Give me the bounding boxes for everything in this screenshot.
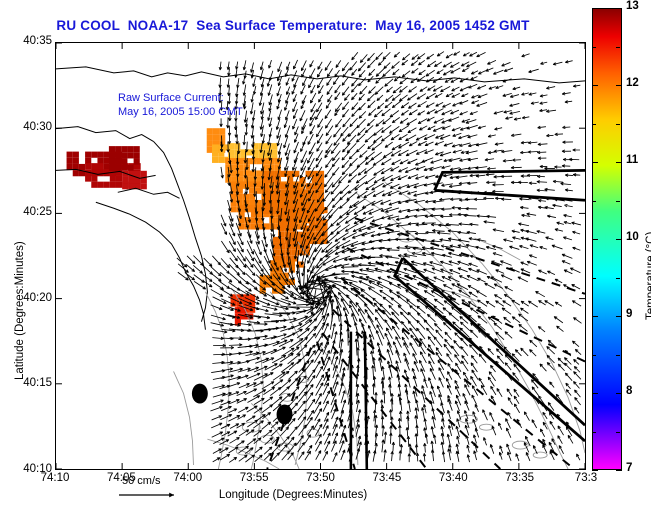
- current-vector-arrow: [450, 421, 453, 430]
- current-vector-arrow: [243, 60, 246, 70]
- current-vector-arrow: [466, 436, 469, 445]
- colorbar-tick-mark: [616, 8, 622, 9]
- sst-pixel: [91, 152, 97, 158]
- current-vector-arrow: [538, 126, 546, 129]
- current-vector-arrow: [557, 326, 564, 331]
- current-vector-arrow: [518, 181, 528, 184]
- current-vector-arrow: [415, 232, 427, 235]
- current-vector-arrow: [340, 359, 344, 373]
- current-vector-arrow: [427, 109, 435, 113]
- current-vector-arrow: [286, 78, 289, 86]
- current-vector-arrow: [472, 395, 477, 405]
- current-vector-arrow: [476, 175, 485, 178]
- current-vector-arrow: [427, 54, 434, 59]
- current-vector-arrow: [419, 126, 427, 130]
- current-vector-arrow: [213, 458, 220, 462]
- current-vector-arrow: [400, 78, 408, 84]
- colorbar-tick-label: 9: [626, 308, 632, 320]
- current-vector-arrow: [555, 279, 562, 283]
- current-vector-arrow: [519, 198, 529, 201]
- y-axis-tick-labels: 40:35 40:30 40:25 40:20 40:15 40:10: [0, 0, 52, 515]
- current-vector-arrow: [384, 63, 390, 69]
- current-vector-arrow: [554, 317, 563, 323]
- current-vector-arrow: [447, 385, 451, 394]
- current-vector-arrow: [228, 409, 237, 413]
- current-vector-arrow: [349, 152, 356, 159]
- colorbar-minor-tick: [616, 432, 620, 433]
- colorbar-tick-mark: [592, 85, 598, 86]
- current-vector-arrow: [445, 332, 452, 340]
- current-vector-arrow: [284, 119, 287, 128]
- map-plot-area[interactable]: Raw Surface Current: May 16, 2005 15:00 …: [55, 42, 586, 470]
- current-vector-arrow: [512, 237, 520, 240]
- current-vector-arrow: [309, 143, 315, 155]
- current-vector-arrow: [553, 180, 563, 183]
- current-vector-arrow: [210, 406, 222, 410]
- current-vector-arrow: [522, 116, 529, 119]
- current-vector-arrow: [246, 416, 255, 422]
- current-vector-arrow: [264, 233, 268, 247]
- current-vector-arrow: [458, 135, 469, 139]
- current-vector-arrow: [452, 87, 460, 91]
- sst-pixel: [231, 206, 237, 212]
- current-vector-arrow: [297, 328, 309, 338]
- current-vector-arrow: [408, 128, 417, 133]
- sst-pixel: [73, 170, 79, 176]
- current-vector-arrow: [371, 351, 374, 364]
- current-vector-arrow: [538, 300, 545, 304]
- current-vector-arrow: [349, 158, 357, 166]
- current-vector-arrow: [392, 160, 401, 165]
- current-vector-arrow: [367, 53, 374, 61]
- current-vector-arrow: [376, 120, 384, 127]
- current-vector-arrow: [414, 193, 426, 197]
- current-vector-arrow: [550, 421, 555, 429]
- sst-pixel: [104, 164, 110, 170]
- current-vector-arrow: [435, 93, 442, 97]
- current-vector-arrow: [238, 407, 248, 412]
- current-vector-arrow: [262, 405, 273, 413]
- sst-pixel: [272, 275, 278, 281]
- current-vector-arrow: [228, 200, 231, 211]
- current-vector-arrow: [461, 346, 468, 355]
- current-vector-arrow: [573, 85, 580, 87]
- current-vector-arrow: [426, 93, 436, 99]
- current-vector-arrow: [574, 366, 580, 372]
- current-vector-arrow: [352, 52, 358, 60]
- current-vector-arrow: [276, 119, 280, 130]
- current-vector-arrow: [471, 71, 478, 74]
- current-vector-arrow: [293, 158, 298, 171]
- current-vector-arrow: [374, 399, 377, 411]
- current-vector-arrow: [211, 423, 222, 428]
- current-vector-arrow: [247, 406, 258, 412]
- current-vector-arrow: [359, 111, 366, 118]
- current-vector-arrow: [442, 103, 450, 107]
- current-vector-arrow: [289, 306, 314, 309]
- current-vector-arrow: [452, 93, 460, 97]
- current-vector-arrow: [455, 354, 461, 363]
- current-vector-arrow: [573, 381, 579, 388]
- sst-pixel: [312, 195, 318, 201]
- current-vector-arrow: [499, 423, 502, 430]
- x-tick-label: 73:40: [439, 472, 468, 484]
- current-vector-arrow: [221, 167, 223, 178]
- current-vector-arrow: [503, 239, 512, 242]
- current-vector-arrow: [333, 76, 339, 84]
- current-vector-arrow: [335, 119, 341, 127]
- current-vector-arrow: [441, 208, 451, 211]
- current-vector-arrow: [540, 364, 547, 371]
- current-vector-arrow: [239, 351, 253, 354]
- sst-pixel: [135, 171, 141, 177]
- current-vector-arrow: [568, 435, 573, 443]
- current-vector-arrow: [573, 149, 580, 152]
- current-vector-arrow: [431, 426, 433, 436]
- current-vector-arrow: [310, 93, 315, 103]
- current-vector-arrow: [357, 119, 366, 128]
- current-vector-arrow: [546, 110, 556, 113]
- current-vector-arrow: [475, 428, 478, 437]
- current-vector-arrow: [296, 345, 306, 355]
- current-vector-arrow: [385, 320, 392, 331]
- current-vector-arrow: [454, 51, 460, 55]
- current-vector-arrow: [546, 237, 554, 240]
- sst-pixel: [207, 134, 213, 140]
- current-vector-arrow: [399, 95, 407, 101]
- current-vector-arrow: [563, 237, 572, 240]
- current-vector-arrow: [467, 454, 469, 462]
- current-vector-arrow: [455, 369, 460, 378]
- current-vector-arrow: [539, 109, 547, 111]
- current-vector-arrow: [521, 301, 529, 306]
- current-vector-arrow: [415, 176, 424, 179]
- current-vector-arrow: [409, 142, 417, 146]
- current-vector-arrow: [565, 189, 573, 192]
- current-vector-arrow: [440, 86, 450, 91]
- current-vector-arrow: [570, 268, 580, 273]
- current-vector-arrow: [501, 150, 512, 153]
- colorbar-tick-mark: [616, 162, 622, 163]
- current-vector-arrow: [465, 384, 470, 395]
- sst-pixel: [207, 128, 213, 134]
- sst-pixel: [67, 158, 73, 164]
- current-vector-arrow: [326, 136, 332, 144]
- current-vector-arrow: [433, 435, 435, 444]
- current-vector-arrow: [471, 355, 477, 363]
- current-vector-arrow: [469, 223, 478, 226]
- current-vector-arrow: [434, 299, 443, 305]
- current-vector-arrow: [317, 143, 322, 152]
- current-vector-arrow: [341, 266, 358, 269]
- contour-blob: [479, 424, 493, 430]
- current-vector-arrow: [260, 119, 263, 129]
- current-vector-arrow: [524, 412, 529, 421]
- current-vector-arrow: [236, 62, 239, 70]
- sst-pixel: [318, 189, 324, 195]
- current-vector-arrow: [562, 261, 570, 265]
- current-vector-arrow: [357, 159, 367, 168]
- current-vector-arrow: [431, 159, 443, 163]
- current-vector-arrow: [521, 237, 529, 240]
- current-vector-arrow: [476, 291, 486, 297]
- current-vector-arrow: [406, 427, 409, 436]
- colorbar-tick-mark: [616, 470, 622, 471]
- current-vector-arrow: [381, 134, 391, 141]
- current-vector-arrow: [416, 166, 425, 170]
- current-vector-arrow: [413, 376, 417, 387]
- current-vector-arrow: [572, 231, 580, 234]
- sst-pixel: [213, 134, 219, 140]
- current-vector-arrow: [250, 102, 253, 114]
- current-vector-arrow: [424, 320, 434, 331]
- sst-pixel: [121, 158, 127, 164]
- current-vector-arrow: [298, 392, 307, 403]
- sst-pixel: [127, 165, 133, 171]
- current-vector-arrow: [359, 103, 366, 110]
- current-vector-arrow: [506, 428, 510, 438]
- current-vector-arrow: [373, 136, 382, 143]
- sst-pixel: [97, 163, 103, 169]
- current-vector-arrow: [277, 86, 281, 96]
- current-vector-arrow: [419, 70, 426, 75]
- current-vector-arrow: [211, 323, 224, 327]
- current-vector-arrow: [509, 103, 519, 106]
- current-vector-arrow: [575, 397, 581, 405]
- current-vector-arrow: [471, 77, 478, 80]
- current-vector-arrow: [432, 229, 444, 232]
- current-vector-arrow: [488, 348, 494, 354]
- current-vector-arrow: [408, 453, 411, 462]
- current-vector-arrow: [358, 409, 361, 420]
- current-vector-arrow: [435, 109, 444, 113]
- figure-title: RU COOL NOAA-17 Sea Surface Temperature:…: [0, 18, 586, 33]
- current-vector-arrow: [402, 60, 408, 65]
- current-vector-arrow: [490, 365, 495, 372]
- current-vector-arrow: [558, 364, 564, 371]
- current-vector-arrow: [378, 60, 384, 66]
- current-vector-arrow: [342, 77, 348, 85]
- current-vector-arrow: [476, 143, 487, 146]
- current-vector-arrow: [565, 350, 571, 356]
- current-vector-arrow: [323, 383, 329, 395]
- current-vector-arrow: [401, 103, 409, 108]
- current-vector-arrow: [386, 87, 392, 92]
- current-vector-arrow: [502, 308, 511, 314]
- current-vector-arrow: [492, 316, 502, 324]
- sst-pixel: [207, 147, 213, 153]
- current-vector-arrow: [494, 111, 503, 114]
- current-vector-arrow: [383, 52, 390, 59]
- colorbar-tick-label: 7: [626, 462, 632, 474]
- current-vector-arrow: [483, 437, 486, 445]
- current-vector-arrow: [383, 118, 391, 124]
- current-vector-arrow: [460, 111, 468, 114]
- current-vector-arrow: [391, 166, 400, 171]
- current-vector-arrow: [418, 101, 427, 106]
- current-vector-arrow: [399, 434, 402, 446]
- current-vector-arrow: [453, 133, 462, 136]
- y-tick-label: 40:20: [6, 292, 52, 304]
- current-vector-arrow: [538, 270, 546, 274]
- current-vector-arrow: [526, 238, 537, 241]
- current-vector-arrow: [219, 62, 222, 70]
- current-vector-arrow: [502, 62, 511, 66]
- current-vector-arrow: [573, 318, 581, 324]
- current-vector-arrow: [529, 93, 537, 95]
- current-vector-arrow: [456, 426, 459, 437]
- current-vector-arrow: [399, 134, 408, 139]
- sst-pixel: [231, 181, 237, 187]
- current-vector-arrow: [251, 94, 253, 102]
- current-vector-arrow: [522, 54, 530, 57]
- current-vector-arrow: [428, 337, 435, 346]
- sst-pixel: [79, 164, 85, 170]
- current-vector-arrow: [361, 289, 375, 299]
- current-vector-arrow: [577, 454, 580, 460]
- sst-pixel: [104, 158, 110, 164]
- sst-pixel: [104, 152, 110, 158]
- current-vector-arrow: [512, 159, 521, 162]
- current-vector-arrow: [477, 85, 486, 89]
- current-vector-arrow: [418, 60, 424, 65]
- sst-pixel: [110, 175, 116, 181]
- current-vector-arrow: [513, 87, 520, 90]
- sst-pixel: [109, 146, 115, 152]
- current-vector-arrow: [520, 308, 528, 313]
- sst-pixel: [238, 164, 244, 170]
- y-axis-title: Latitude (Degrees:Minutes): [14, 241, 26, 380]
- current-vector-arrow: [455, 386, 460, 396]
- current-vector-arrow: [219, 78, 222, 88]
- current-vector-arrow: [272, 355, 286, 363]
- current-vector-arrow: [490, 444, 493, 453]
- current-vector-arrow: [392, 61, 400, 68]
- current-vector-arrow: [365, 134, 374, 142]
- sst-pixel: [212, 157, 218, 163]
- current-vector-arrow: [540, 95, 547, 97]
- current-vector-arrow: [408, 400, 411, 412]
- current-vector-arrow: [220, 415, 231, 420]
- current-vector-arrow: [553, 62, 562, 65]
- current-vector-arrow: [400, 118, 408, 123]
- current-vector-arrow: [494, 284, 503, 289]
- current-vector-arrow: [487, 167, 496, 170]
- current-vector-arrow: [518, 314, 527, 321]
- current-vector-arrow: [530, 340, 537, 347]
- current-vector-arrow: [565, 61, 572, 63]
- current-vector-arrow: [485, 283, 495, 288]
- current-vector-arrow: [300, 110, 305, 121]
- current-vector-arrow: [230, 437, 240, 443]
- current-vector-arrow: [391, 134, 399, 139]
- sst-pixel: [73, 158, 79, 164]
- current-vector-arrow: [372, 183, 384, 190]
- sst-pixel: [110, 182, 116, 188]
- current-vector-arrow: [212, 400, 224, 404]
- current-vector-arrow: [528, 141, 537, 144]
- current-vector-arrow: [470, 330, 478, 338]
- current-vector-arrow: [465, 401, 469, 411]
- current-vector-arrow: [496, 86, 504, 89]
- current-vector-arrow: [317, 69, 322, 77]
- current-vector-arrow: [382, 440, 385, 453]
- current-vector-arrow: [359, 70, 365, 77]
- current-vector-arrow: [390, 184, 399, 188]
- colorbar-tick-mark: [616, 85, 622, 86]
- current-vector-arrow: [382, 109, 391, 116]
- sst-map-figure: RU COOL NOAA-17 Sea Surface Temperature:…: [0, 0, 651, 515]
- current-vector-arrow: [392, 101, 401, 108]
- current-vector-arrow: [255, 447, 262, 453]
- current-vector-arrow: [477, 215, 487, 218]
- current-vector-arrow: [325, 61, 331, 71]
- current-vector-arrow: [318, 62, 322, 70]
- current-vector-arrow: [550, 382, 555, 388]
- current-vector-arrow: [425, 175, 435, 178]
- current-vector-arrow: [434, 323, 441, 331]
- current-vector-arrow: [543, 422, 547, 429]
- sst-pixel: [218, 157, 224, 163]
- current-vector-arrow: [369, 69, 375, 75]
- current-vector-arrow: [367, 60, 375, 68]
- current-vector-arrow: [194, 275, 205, 283]
- current-vector-arrow: [393, 342, 399, 356]
- current-vector-arrow: [289, 371, 298, 379]
- current-vector-arrow: [359, 151, 367, 158]
- current-vector-arrow: [526, 230, 537, 233]
- current-vector-arrow: [260, 62, 263, 70]
- current-vector-arrow: [475, 404, 478, 411]
- current-vector-arrow: [511, 134, 521, 136]
- current-vector-arrow: [514, 404, 519, 413]
- current-vector-arrow: [399, 126, 409, 132]
- current-vector-arrow: [417, 328, 425, 339]
- current-vector-arrow: [253, 86, 255, 95]
- current-vector-arrow: [381, 159, 391, 165]
- sst-pixel: [121, 165, 127, 171]
- colorbar-minor-tick: [592, 124, 596, 125]
- current-vector-arrow: [487, 215, 496, 218]
- current-vector-arrow: [527, 213, 536, 216]
- current-vector-arrow: [555, 133, 563, 136]
- current-vector-arrow: [493, 229, 504, 232]
- current-vector-arrow: [425, 434, 428, 444]
- current-vector-arrow: [446, 93, 453, 96]
- current-vector-arrow: [512, 317, 520, 323]
- current-vector-arrow: [294, 60, 298, 69]
- current-vector-arrow: [572, 284, 580, 288]
- current-vector-arrow: [376, 52, 383, 59]
- colorbar-tick-mark: [592, 470, 598, 471]
- colorbar-tick-mark: [592, 393, 598, 394]
- current-vector-arrow: [359, 94, 365, 100]
- colorbar-minor-tick: [616, 124, 620, 125]
- current-vector-arrow: [448, 277, 459, 282]
- current-vector-arrow: [307, 369, 315, 380]
- current-vector-arrow: [504, 68, 513, 71]
- sst-pixel: [127, 146, 133, 152]
- current-vector-arrow: [526, 452, 530, 461]
- current-vector-arrow: [537, 151, 546, 154]
- current-vector-arrow: [358, 63, 365, 72]
- current-vector-arrow: [540, 102, 548, 104]
- current-vector-arrow: [473, 435, 476, 444]
- current-vector-arrow: [443, 70, 451, 75]
- current-vector-arrow: [454, 340, 461, 348]
- current-vector-arrow: [254, 323, 268, 326]
- current-vector-arrow: [527, 261, 537, 265]
